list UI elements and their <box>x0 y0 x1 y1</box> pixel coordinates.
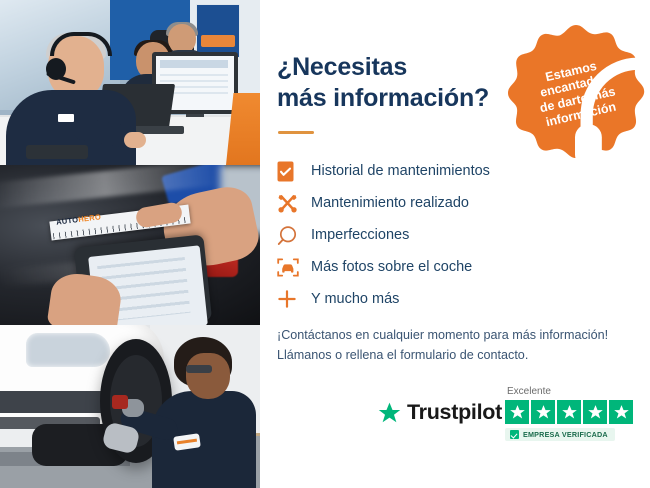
mechanic <box>152 337 256 488</box>
feature-label: Más fotos sobre el coche <box>311 260 472 275</box>
hand-tool <box>112 395 128 409</box>
promo-badge: Estamos encantados de darte más informac… <box>506 23 646 163</box>
desk-tablet <box>26 145 88 159</box>
trustpilot-widget[interactable]: Trustpilot Excelente EMPRESA VERIFICADA <box>377 386 637 448</box>
rating-label: Excelente <box>507 386 637 397</box>
trustpilot-star-icon <box>377 401 402 425</box>
rating-star <box>557 400 581 424</box>
rating-stars <box>505 400 637 424</box>
car-scan-icon <box>277 251 311 283</box>
feature-item-historial: Historial de mantenimientos <box>277 155 627 187</box>
rating-star <box>609 400 633 424</box>
headset-band <box>50 32 112 56</box>
page-title: ¿Necesitas más información? <box>277 52 527 113</box>
call-center-agents-photo <box>0 0 260 165</box>
title-line-1: ¿Necesitas <box>277 53 407 81</box>
title-line-2: más información? <box>277 84 489 112</box>
feature-label: Y mucho más <box>311 292 399 307</box>
car-headlight <box>26 333 110 367</box>
car-inspection-ruler-photo: AUTOHERO <box>0 165 260 325</box>
verified-business-badge: EMPRESA VERIFICADA <box>505 428 615 441</box>
plus-icon <box>277 283 311 315</box>
contact-line-2: Llámanos o rellena el formulario de cont… <box>277 345 637 365</box>
trustpilot-wordmark: Trustpilot <box>407 400 502 425</box>
feature-list: Historial de mantenimientos <box>277 155 627 315</box>
title-underline-rule <box>278 131 314 134</box>
feature-label: Mantenimiento realizado <box>311 196 469 211</box>
feature-label: Imperfecciones <box>311 228 409 243</box>
trustpilot-rating: Excelente EMPRESA VERIFICADA <box>505 386 637 444</box>
check-badge-icon <box>510 430 519 439</box>
magnifier-icon <box>277 219 311 251</box>
feature-item-mas: Y mucho más <box>277 283 627 315</box>
feature-label: Historial de mantenimientos <box>311 164 490 179</box>
information-banner: AUTOHERO <box>0 0 650 488</box>
feature-item-imperfecciones: Imperfecciones <box>277 219 627 251</box>
photo-column: AUTOHERO <box>0 0 260 488</box>
feature-item-fotos: Más fotos sobre el coche <box>277 251 627 283</box>
trustpilot-logo: Trustpilot <box>377 400 502 425</box>
rating-star <box>531 400 555 424</box>
content-panel: ¿Necesitas más información? <box>260 0 650 488</box>
document-check-icon <box>277 155 311 187</box>
contact-paragraph: ¡Contáctanos en cualquier momento para m… <box>277 325 637 366</box>
feature-item-mantenimiento: Mantenimiento realizado <box>277 187 627 219</box>
contact-line-1: ¡Contáctanos en cualquier momento para m… <box>277 325 637 345</box>
safety-glasses <box>186 365 212 373</box>
rating-star <box>583 400 607 424</box>
verified-label: EMPRESA VERIFICADA <box>523 430 608 439</box>
mechanic-wheel-photo <box>0 325 260 488</box>
tools-icon <box>277 187 311 219</box>
rating-star <box>505 400 529 424</box>
